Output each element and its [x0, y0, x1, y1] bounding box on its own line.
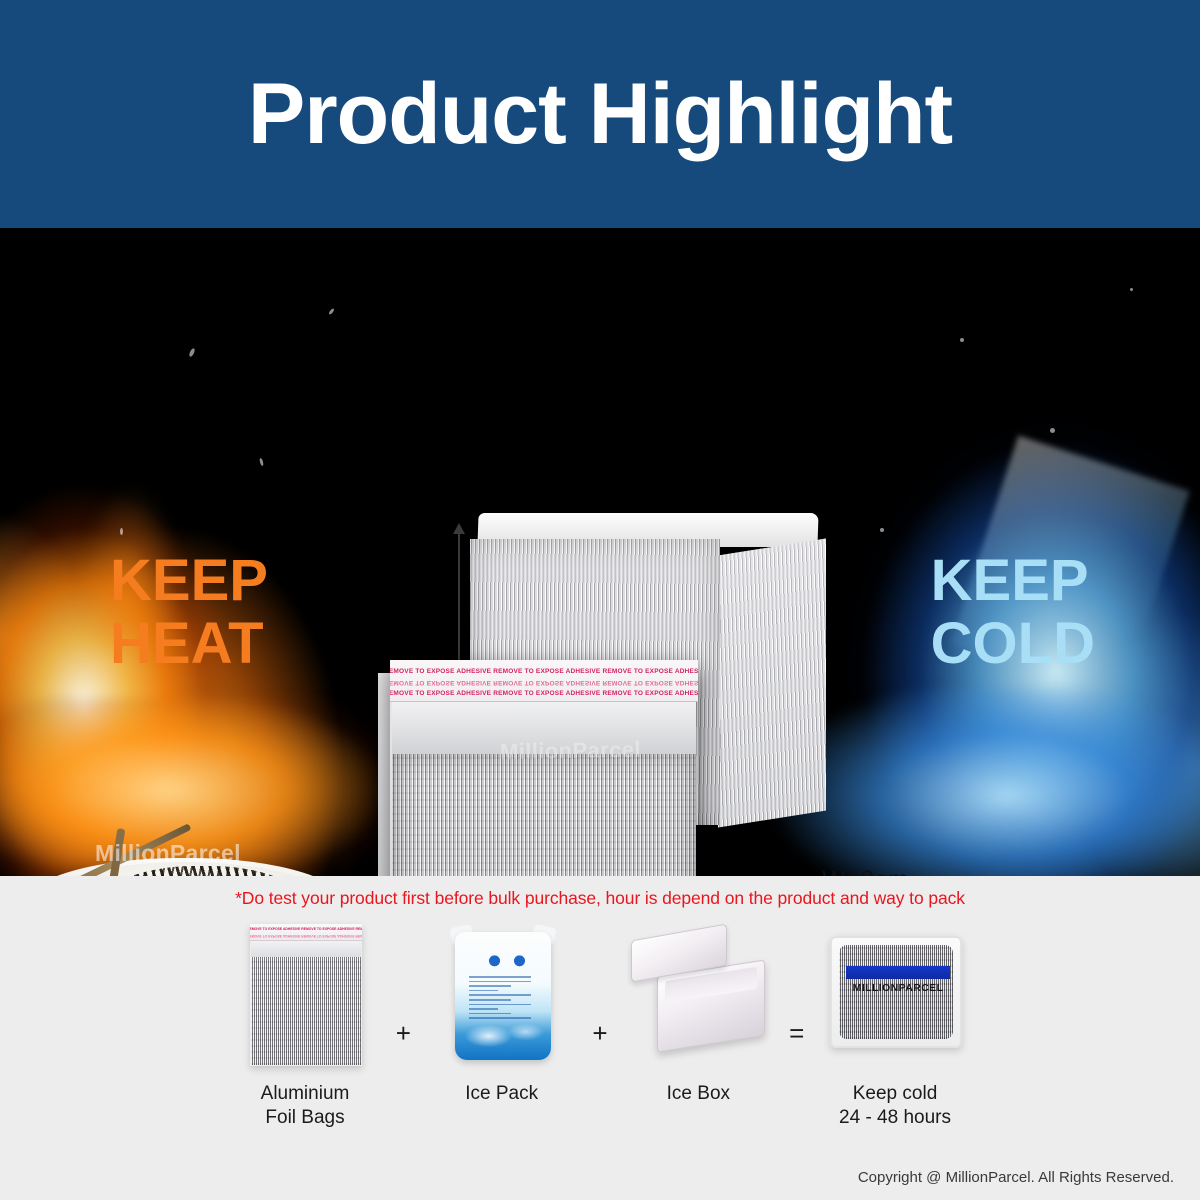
watermark-left: MillionParcel — [95, 840, 241, 867]
result-blue-tape — [846, 966, 950, 979]
adhesive-strip-text-2: REMOVE TO EXPOSE ADHESIVE REMOVE TO EXPO… — [390, 688, 698, 699]
ice-pack-text-lines — [469, 976, 531, 1022]
adhesive-strip: REMOVE TO EXPOSE ADHESIVE REMOVE TO EXPO… — [390, 660, 698, 702]
adhesive-strip-icon: REMOVE TO EXPOSE ADHESIVE REMOVE TO EXPO… — [250, 924, 362, 941]
copyright-text: Copyright @ MillionParcel. All Rights Re… — [0, 1169, 1200, 1186]
equation-label-ice-box: Ice Box — [667, 1082, 730, 1106]
equation-operator-plus-2: + — [577, 1018, 624, 1049]
foil-bag-body — [392, 754, 696, 876]
keep-cold-label: KEEP COLD — [931, 550, 1095, 675]
dimension-label: W19cm — [822, 866, 909, 876]
product-highlight-page: Product Highlight MillionParcel — [0, 0, 1200, 1200]
adhesive-strip-icon-text: REMOVE TO EXPOSE ADHESIVE REMOVE TO EXPO… — [250, 927, 362, 932]
watermark-center: MillionParcel — [500, 737, 641, 765]
bottom-info-section: *Do test your product first before bulk … — [0, 876, 1200, 1200]
result-foil-pack-icon: MILLIONPARCEL — [820, 918, 970, 1070]
page-header: Product Highlight — [0, 0, 1200, 228]
spark-particle — [960, 338, 964, 342]
result-brand-text: MILLIONPARCEL — [844, 982, 952, 994]
foil-bag-front: REMOVE TO EXPOSE ADHESIVE REMOVE TO EXPO… — [390, 660, 698, 876]
packing-equation-row: REMOVE TO EXPOSE ADHESIVE REMOVE TO EXPO… — [230, 918, 970, 1178]
equation-item-foil-bags: REMOVE TO EXPOSE ADHESIVE REMOVE TO EXPO… — [230, 918, 380, 1130]
spark-particle — [1130, 288, 1133, 291]
hero-photo-band: MillionParcel REMOVE TO EXPOSE ADHESIVE … — [0, 228, 1200, 876]
spark-particle — [328, 308, 335, 315]
equation-label-result: Keep cold 24 - 48 hours — [839, 1082, 951, 1130]
ice-pack-splash-graphic — [465, 1020, 549, 1060]
ice-pack-icon — [427, 918, 577, 1070]
adhesive-strip-text-mirror: REMOVE TO EXPOSE ADHESIVE REMOVE TO EXPO… — [390, 677, 698, 688]
equation-item-result: MILLIONPARCEL Keep cold 24 - 48 hours — [820, 918, 970, 1130]
spark-particle — [120, 528, 123, 535]
equation-operator-plus-1: + — [380, 1018, 427, 1049]
box-side-panel — [718, 538, 826, 827]
sashimi-platter — [735, 846, 1165, 876]
adhesive-strip-icon-text-mirror: REMOVE TO EXPOSE ADHESIVE REMOVE TO EXPO… — [250, 933, 362, 938]
spark-particle — [880, 528, 884, 532]
equation-item-ice-box: Ice Box — [623, 918, 773, 1106]
equation-operator-equals: = — [773, 1018, 820, 1049]
ice-box-icon — [623, 918, 773, 1070]
equation-label-ice-pack: Ice Pack — [465, 1082, 538, 1106]
disclaimer-text: *Do test your product first before bulk … — [0, 888, 1200, 909]
spark-particle — [1050, 428, 1055, 433]
equation-item-ice-pack: Ice Pack — [427, 918, 577, 1106]
page-title: Product Highlight — [248, 71, 952, 157]
adhesive-strip-text: REMOVE TO EXPOSE ADHESIVE REMOVE TO EXPO… — [390, 666, 698, 677]
foil-bag-icon: REMOVE TO EXPOSE ADHESIVE REMOVE TO EXPO… — [230, 918, 380, 1070]
keep-heat-label: KEEP HEAT — [110, 550, 268, 675]
equation-label-foil-bags: Aluminium Foil Bags — [261, 1082, 350, 1130]
ice-pack-logo-icon — [483, 952, 531, 968]
